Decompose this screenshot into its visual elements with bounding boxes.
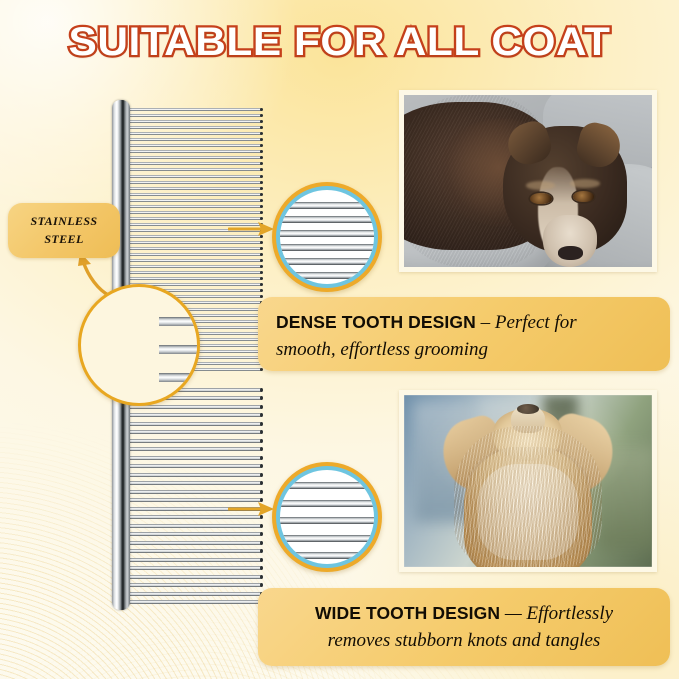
magnifier-tooth (280, 552, 374, 559)
magnifier-tooth (280, 482, 374, 489)
callout-dash: — (500, 603, 526, 624)
page-title: SUITABLE FOR ALL COAT (0, 20, 679, 65)
comb-tooth (128, 456, 262, 460)
callout-line-1: DENSE TOOTH DESIGN – Perfect for (276, 310, 652, 337)
comb-tooth (128, 473, 262, 477)
comb-tooth (128, 541, 262, 545)
spine-zoom-tooth (159, 317, 200, 326)
comb-tooth (128, 405, 262, 409)
magnifier-tooth (280, 244, 374, 251)
magnifier-ring (276, 186, 378, 288)
comb-tooth (128, 592, 262, 596)
spine-zoom-tooth (159, 345, 200, 354)
comb-tooth (128, 549, 262, 553)
callout-line-2: removes stubborn knots and tangles (276, 628, 652, 655)
comb-tooth (128, 447, 262, 451)
stainless-steel-badge: STAINLESS STEEL (8, 203, 120, 258)
comb-tooth (128, 413, 262, 417)
photo1-dog-eye (573, 191, 594, 202)
callout-wide-tooth: WIDE TOOTH DESIGN — Effortlessly removes… (258, 588, 670, 666)
comb-tooth (128, 490, 262, 494)
comb-tooth (128, 583, 262, 587)
photo2-sun-glow (404, 395, 652, 567)
magnifier-face (280, 470, 374, 564)
photo-content (404, 395, 652, 567)
arrow-right-icon (228, 218, 276, 240)
magnifier-tooth (280, 258, 374, 265)
comb-tooth (128, 566, 262, 570)
spine-zoom-rod (121, 284, 163, 406)
comb-tooth (128, 430, 262, 434)
callout-heading: WIDE TOOTH DESIGN (315, 603, 500, 623)
comb-tooth (128, 558, 262, 562)
photo1-dog-nose (558, 246, 583, 260)
dog-photo-looking-up (399, 390, 657, 572)
magnifier-face (280, 190, 374, 284)
arrow-right-icon (228, 498, 276, 520)
magnifier-ring (276, 466, 378, 568)
dense-tooth-magnifier (272, 182, 382, 292)
callout-line-1: WIDE TOOTH DESIGN — Effortlessly (276, 601, 652, 628)
magnifier-tooth (280, 272, 374, 279)
comb-tooth (128, 439, 262, 443)
comb-tooth (128, 600, 262, 604)
comb-tooth (128, 575, 262, 579)
wide-tooth-magnifier (272, 462, 382, 572)
callout-body-part-1: Effortlessly (526, 603, 613, 624)
magnifier-tooth (280, 202, 374, 209)
callout-body-part-1: Perfect for (495, 312, 577, 333)
photo1-dog-brow (570, 179, 600, 188)
magnifier-tooth (280, 216, 374, 223)
photo1-dog-brow (526, 181, 556, 190)
comb-tooth (128, 532, 262, 536)
callout-dense-tooth: DENSE TOOTH DESIGN – Perfect for smooth,… (258, 297, 670, 371)
photo-content (404, 95, 652, 267)
badge-line-2: STEEL (44, 231, 83, 248)
magnifier-tooth (280, 517, 374, 524)
magnifier-tooth (280, 230, 374, 237)
spine-zoom-tooth (159, 373, 200, 382)
comb-tooth (128, 481, 262, 485)
callout-line-2: smooth, effortless grooming (276, 337, 652, 364)
spine-zoom-circle (78, 284, 200, 406)
badge-line-1: STAINLESS (31, 213, 98, 230)
infographic-canvas: SUITABLE FOR ALL COAT STAINLESS STEEL (0, 0, 679, 679)
comb-tooth (128, 524, 262, 528)
magnifier-tooth (280, 535, 374, 542)
magnifier-tooth (280, 500, 374, 507)
callout-heading: DENSE TOOTH DESIGN (276, 312, 476, 332)
comb-tooth (128, 422, 262, 426)
dog-photo-resting (399, 90, 657, 272)
callout-dash: – (476, 312, 495, 333)
comb-tooth (128, 464, 262, 468)
photo1-dog-eye (530, 193, 551, 204)
